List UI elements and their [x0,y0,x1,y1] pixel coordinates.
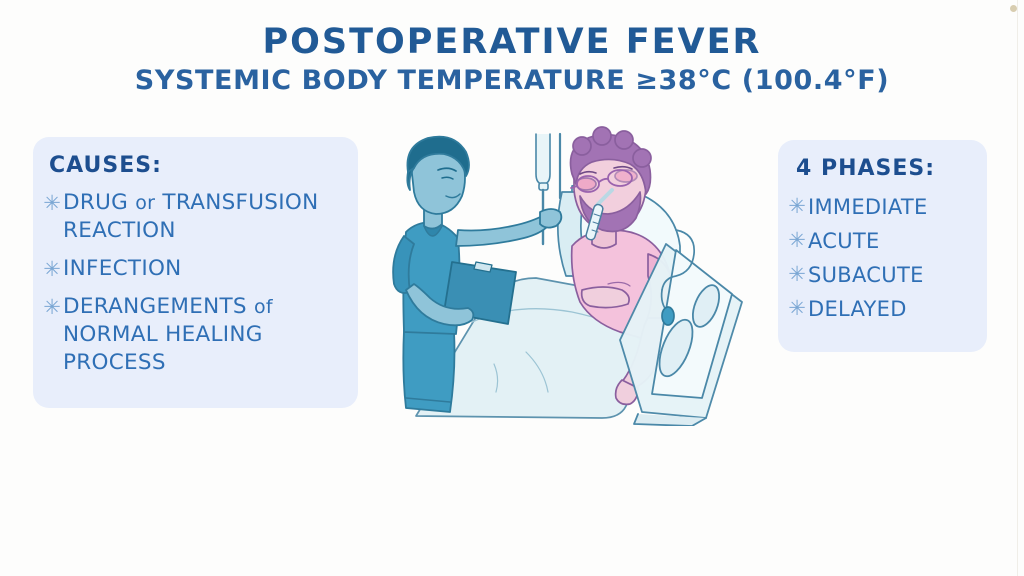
list-item: ✳ INFECTION [41,255,352,283]
causes-item-0-word-1: DRUG [63,190,128,215]
asterisk-bullet-icon: ✳ [786,260,808,288]
causes-item-text: DERANGEMENTS of NORMAL HEALING PROCESS [63,293,352,377]
asterisk-bullet-icon: ✳ [786,226,808,254]
causes-item-2-connector: of [254,296,273,318]
phases-panel: 4 PHASES: ✳ IMMEDIATE ✳ ACUTE ✳ SUBACUTE… [778,140,987,352]
asterisk-bullet-icon: ✳ [41,255,63,283]
causes-item-1-line-1: INFECTION [63,256,182,281]
asterisk-bullet-icon: ✳ [786,192,808,220]
slide-canvas: POSTOPERATIVE FEVER SYSTEMIC BODY TEMPER… [0,0,1024,576]
causes-panel: CAUSES: ✳ DRUG or TRANSFUSION REACTION ✳… [33,137,358,408]
list-item: ✳ SUBACUTE [786,260,981,290]
causes-heading: CAUSES: [49,153,162,178]
list-item: ✳ ACUTE [786,226,981,256]
causes-item-2-line-3: PROCESS [63,350,166,375]
title-block: POSTOPERATIVE FEVER SYSTEMIC BODY TEMPER… [0,22,1024,98]
asterisk-bullet-icon: ✳ [41,293,63,321]
phases-heading: 4 PHASES: [796,156,935,181]
list-item: ✳ IMMEDIATE [786,192,981,222]
phases-list: ✳ IMMEDIATE ✳ ACUTE ✳ SUBACUTE ✳ DELAYED [786,192,981,328]
corner-dot-marker [1010,5,1017,12]
causes-item-0-connector: or [135,192,155,214]
causes-item-0-line-2: REACTION [63,218,176,243]
list-item: ✳ DRUG or TRANSFUSION REACTION [41,189,352,245]
causes-item-2-word-1: DERANGEMENTS [63,294,247,319]
page-title: POSTOPERATIVE FEVER [0,22,1024,62]
list-item: ✳ DERANGEMENTS of NORMAL HEALING PROCESS [41,293,352,377]
asterisk-bullet-icon: ✳ [786,294,808,322]
causes-list: ✳ DRUG or TRANSFUSION REACTION ✳ INFECTI… [41,189,352,387]
phase-item-label: IMMEDIATE [808,192,981,222]
causes-item-0-word-2: TRANSFUSION [162,190,318,215]
phase-item-label: DELAYED [808,294,981,324]
causes-item-2-line-2: NORMAL HEALING [63,322,263,347]
list-item: ✳ DELAYED [786,294,981,324]
phase-item-label: ACUTE [808,226,981,256]
asterisk-bullet-icon: ✳ [41,189,63,217]
causes-item-text: DRUG or TRANSFUSION REACTION [63,189,352,245]
phase-item-label: SUBACUTE [808,260,981,290]
causes-item-text: INFECTION [63,255,352,283]
page-subtitle: SYSTEMIC BODY TEMPERATURE ≥38°C (100.4°F… [0,64,1024,98]
illustration-nurse-and-patient [376,126,776,426]
